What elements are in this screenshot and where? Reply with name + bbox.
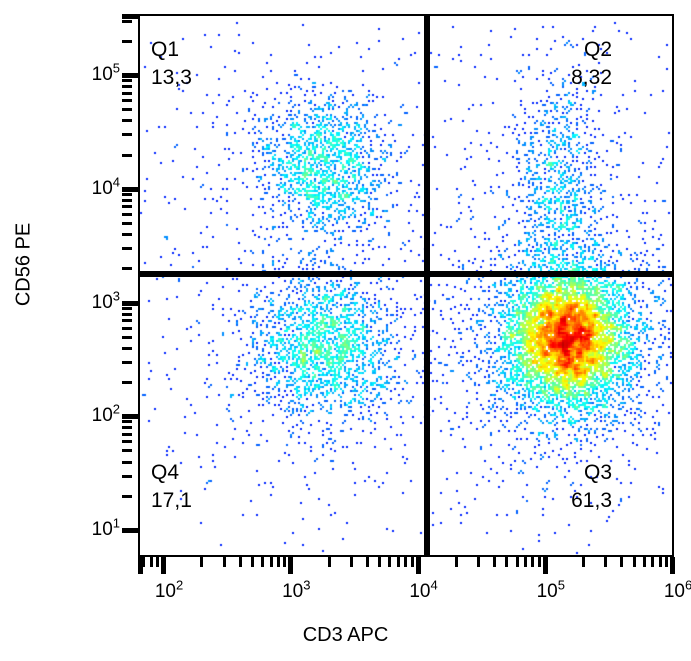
y-axis-title: CD56 PE [13, 195, 36, 335]
x-tick-minor [477, 557, 480, 567]
x-tick-major [138, 557, 143, 574]
x-tick-label: 103 [282, 581, 310, 603]
x-tick-label-base: 10 [664, 581, 685, 602]
y-tick-label-exponent: 2 [113, 402, 120, 417]
x-tick-major [670, 557, 675, 574]
x-tick-minor [493, 557, 496, 567]
x-tick-minor [620, 557, 623, 567]
x-tick-minor [516, 557, 519, 567]
x-tick-minor [270, 557, 273, 567]
y-tick-minor [122, 222, 132, 225]
y-tick-minor [122, 433, 132, 436]
y-tick-major [122, 301, 139, 306]
x-tick-major [161, 557, 166, 574]
x-tick-minor [633, 557, 636, 567]
x-tick-minor [277, 557, 280, 567]
y-tick-minor [122, 79, 132, 82]
y-tick-minor [122, 92, 132, 95]
y-tick-minor [122, 313, 132, 316]
y-tick-minor [122, 449, 132, 452]
x-tick-label-exponent: 6 [685, 578, 691, 593]
y-tick-minor [122, 381, 132, 384]
quadrant-label-q2: Q2 8,32 [571, 36, 612, 93]
x-tick-minor [397, 557, 400, 567]
x-tick-minor [505, 557, 508, 567]
y-tick-minor [122, 495, 132, 498]
x-tick-major [416, 557, 421, 574]
y-tick-label-exponent: 1 [113, 516, 120, 531]
x-tick-label-base: 10 [537, 581, 558, 602]
y-tick-minor [122, 20, 132, 23]
y-tick-minor [122, 119, 132, 122]
y-tick-minor [122, 99, 132, 102]
x-tick-minor [651, 557, 654, 567]
x-tick-label: 104 [409, 581, 437, 603]
quadrant-q1-name: Q1 [151, 36, 192, 64]
x-tick-minor [328, 557, 331, 567]
x-tick-minor [538, 557, 541, 567]
y-tick-label-exponent: 4 [113, 174, 120, 189]
y-tick-minor [122, 133, 132, 136]
x-tick-minor [531, 557, 534, 567]
x-tick-label-base: 10 [282, 581, 303, 602]
x-tick-label: 106 [664, 581, 691, 603]
x-tick-label: 105 [537, 581, 565, 603]
y-tick-label-exponent: 5 [113, 61, 120, 76]
quadrant-gate-vertical-line[interactable] [424, 14, 430, 557]
y-tick-minor [122, 327, 132, 330]
x-tick-label: 102 [155, 581, 183, 603]
x-tick-minor [659, 557, 662, 567]
y-tick-minor [122, 347, 132, 350]
x-tick-label-exponent: 4 [430, 578, 437, 593]
quadrant-label-q1: Q1 13,3 [151, 36, 192, 93]
y-tick-label-base: 10 [92, 64, 113, 85]
quadrant-gate-horizontal-line[interactable] [138, 271, 674, 277]
x-tick-minor [366, 557, 369, 567]
y-tick-label-exponent: 3 [113, 288, 120, 303]
quadrant-q1-value: 13,3 [151, 64, 192, 92]
x-tick-label-exponent: 2 [176, 578, 183, 593]
quadrant-q2-name: Q2 [571, 36, 612, 64]
x-tick-minor [156, 557, 159, 567]
x-tick-minor [378, 557, 381, 567]
y-tick-minor [122, 319, 132, 322]
x-tick-minor [223, 557, 226, 567]
x-tick-minor [604, 557, 607, 567]
y-tick-minor [122, 108, 132, 111]
x-tick-minor [283, 557, 286, 567]
x-tick-label-exponent: 5 [558, 578, 565, 593]
y-tick-minor [122, 461, 132, 464]
y-tick-label: 103 [92, 292, 120, 314]
x-tick-label-base: 10 [409, 581, 430, 602]
y-tick-label: 101 [92, 519, 120, 541]
y-tick-label: 105 [92, 64, 120, 86]
y-tick-minor [122, 193, 132, 196]
x-tick-minor [582, 557, 585, 567]
y-tick-minor [122, 199, 132, 202]
x-tick-label-base: 10 [155, 581, 176, 602]
x-tick-minor [150, 557, 153, 567]
quadrant-q2-value: 8,32 [571, 64, 612, 92]
x-tick-minor [404, 557, 407, 567]
y-tick-major [122, 414, 139, 419]
quadrant-label-q3: Q3 61,3 [571, 459, 612, 516]
y-tick-major [122, 14, 139, 19]
quadrant-q4-name: Q4 [151, 459, 192, 487]
x-tick-minor [411, 557, 414, 567]
y-tick-label-base: 10 [92, 178, 113, 199]
y-tick-label-base: 10 [92, 519, 113, 540]
x-tick-major [543, 557, 548, 574]
x-tick-minor [251, 557, 254, 567]
quadrant-label-q4: Q4 17,1 [151, 459, 192, 516]
x-tick-minor [350, 557, 353, 567]
y-tick-minor [122, 267, 132, 270]
y-tick-minor [122, 420, 132, 423]
x-tick-minor [261, 557, 264, 567]
x-tick-minor [455, 557, 458, 567]
y-tick-minor [122, 440, 132, 443]
y-tick-minor [122, 475, 132, 478]
x-tick-minor [388, 557, 391, 567]
y-tick-minor [122, 154, 132, 157]
x-tick-minor [665, 557, 668, 567]
y-tick-label-base: 10 [92, 405, 113, 426]
y-tick-minor [122, 426, 132, 429]
y-tick-major [122, 528, 139, 533]
y-tick-label-base: 10 [92, 292, 113, 313]
y-tick-minor [122, 361, 132, 364]
y-tick-minor [122, 233, 132, 236]
y-tick-major [122, 73, 139, 78]
y-tick-minor [122, 40, 132, 43]
x-tick-minor [643, 557, 646, 567]
quadrant-q3-value: 61,3 [571, 487, 612, 515]
x-tick-minor [524, 557, 527, 567]
x-tick-minor [200, 557, 203, 567]
y-tick-minor [122, 213, 132, 216]
x-tick-label-exponent: 3 [303, 578, 310, 593]
quadrant-q3-name: Q3 [571, 459, 612, 487]
y-tick-label: 102 [92, 405, 120, 427]
y-tick-label: 104 [92, 178, 120, 200]
y-tick-minor [122, 205, 132, 208]
quadrant-q4-value: 17,1 [151, 487, 192, 515]
y-tick-major [122, 187, 139, 192]
y-tick-minor [122, 336, 132, 339]
y-tick-minor [122, 307, 132, 310]
y-tick-minor [122, 247, 132, 250]
y-tick-minor [122, 85, 132, 88]
x-tick-major [288, 557, 293, 574]
x-axis-title: CD3 APC [0, 624, 691, 647]
x-tick-minor [239, 557, 242, 567]
flow-cytometry-plot: Q1 13,3 Q2 8,32 Q4 17,1 Q3 61,3 10510410… [0, 0, 691, 661]
x-axis-ticks [0, 557, 691, 575]
